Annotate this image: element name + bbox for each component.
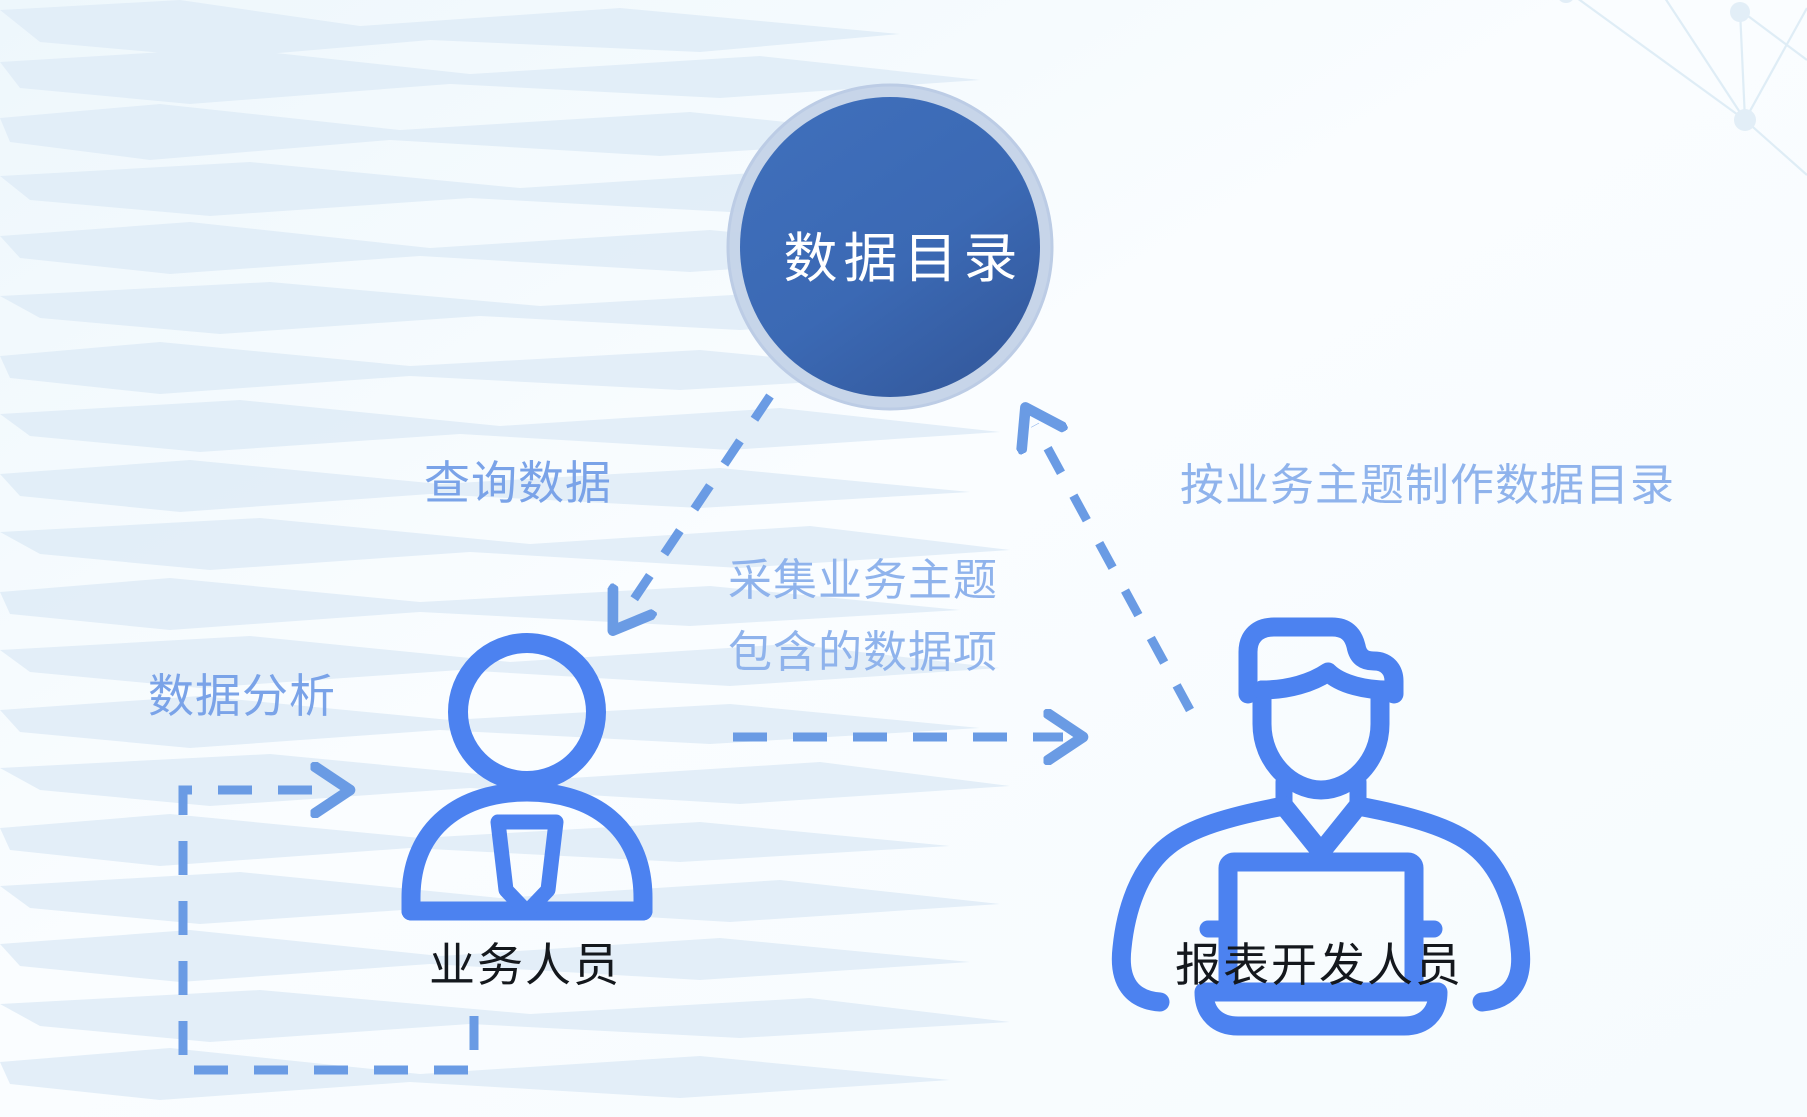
edge-label-data-analysis: 数据分析	[148, 669, 336, 723]
data-catalog-label: 数据目录	[0, 214, 1807, 293]
edge-label-collect-items-line2: 包含的数据项	[728, 627, 998, 679]
edge-label-build-catalog: 按业务主题制作数据目录	[1180, 460, 1675, 512]
edge-label-query-data: 查询数据	[424, 456, 612, 510]
edge-label-collect-items-line1: 采集业务主题	[728, 555, 998, 607]
actor-label-report-developer: 报表开发人员	[1175, 938, 1463, 992]
diagram-canvas: 数据目录 查询数据 按业务主题制作数据目录 采集业务主题 包含的数据项 数据分析…	[0, 0, 1807, 1117]
diagram-text-layer: 数据目录 查询数据 按业务主题制作数据目录 采集业务主题 包含的数据项 数据分析…	[0, 0, 1807, 1117]
actor-label-business-person: 业务人员	[429, 938, 621, 992]
